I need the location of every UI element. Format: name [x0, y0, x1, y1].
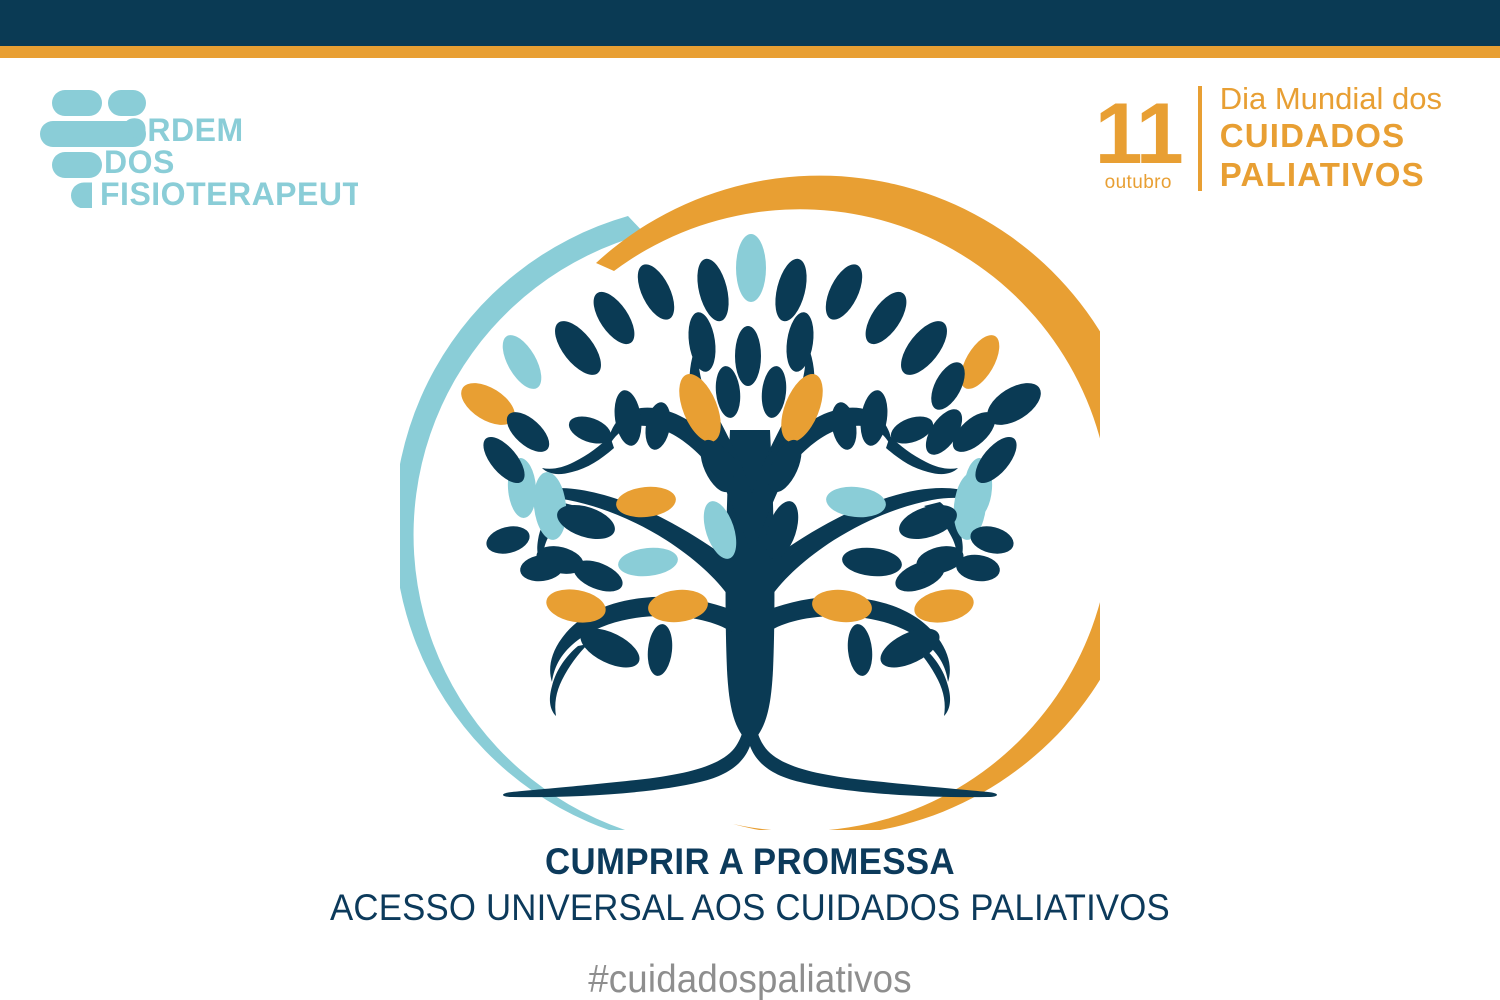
caption-block: CUMPRIR A PROMESSA ACESSO UNIVERSAL AOS …: [0, 840, 1500, 1000]
emblem-tree: [454, 234, 1048, 797]
world-day-line2: CUIDADOS: [1220, 117, 1442, 156]
world-day-lockup: 11 outubro Dia Mundial dos CUIDADOS PALI…: [1095, 82, 1442, 195]
brand-logo-line2: DOS: [104, 144, 175, 180]
brand-logo-line1: ORDEM: [122, 112, 244, 148]
caption-headline: CUMPRIR A PROMESSA: [45, 840, 1455, 884]
tree-of-life-svg: [400, 130, 1100, 830]
tree-of-life-emblem: [400, 130, 1100, 830]
top-navy-bar: [0, 0, 1500, 46]
caption-hashtag: #cuidadospaliativos: [45, 958, 1455, 1000]
world-day-month: outubro: [1105, 172, 1172, 195]
world-day-line3: PALIATIVOS: [1220, 156, 1442, 195]
world-day-line1: Dia Mundial dos: [1220, 82, 1442, 117]
world-day-text: Dia Mundial dos CUIDADOS PALIATIVOS: [1202, 82, 1442, 195]
world-day-date: 11 outubro: [1095, 82, 1198, 195]
brand-logo: ORDEM DOS FISIOTERAPEUTAS: [38, 88, 358, 208]
brand-logo-svg: ORDEM DOS FISIOTERAPEUTAS: [38, 88, 358, 208]
caption-subheadline: ACESSO UNIVERSAL AOS CUIDADOS PALIATIVOS: [45, 886, 1455, 930]
brand-logo-wordmark: ORDEM DOS FISIOTERAPEUTAS: [100, 112, 358, 208]
poster-canvas: ORDEM DOS FISIOTERAPEUTAS 11 outubro Dia…: [0, 0, 1500, 1000]
world-day-number: 11: [1095, 99, 1182, 170]
brand-logo-line3: FISIOTERAPEUTAS: [100, 176, 358, 208]
top-orange-bar: [0, 46, 1500, 58]
